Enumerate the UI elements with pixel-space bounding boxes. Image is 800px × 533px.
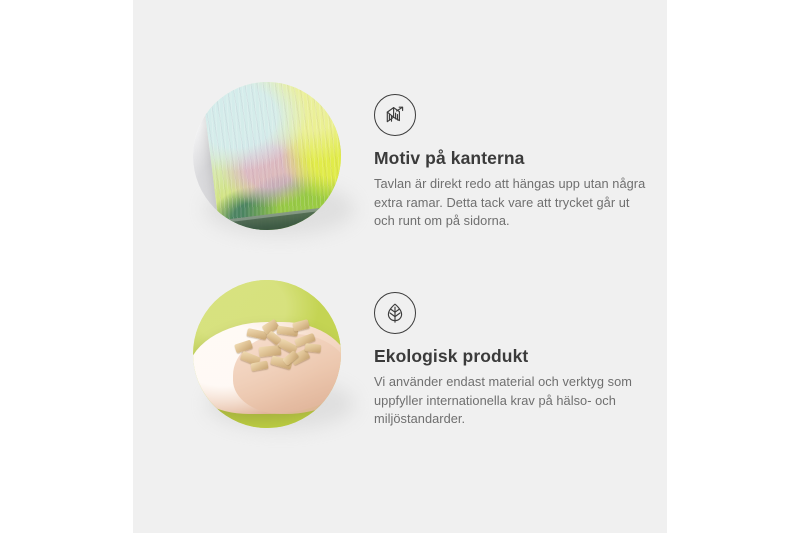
feature-text-canvasprint: Motiv på kanterna Tavlan är direkt redo … — [374, 82, 646, 231]
feature-image-canvasprint — [193, 82, 341, 230]
product-info-graphic: Motiv på kanterna Tavlan är direkt redo … — [0, 0, 800, 533]
canvas-slab — [202, 82, 341, 230]
eco-wood-photo — [193, 280, 341, 428]
feature-text-ecowood: Ekologisk produkt Vi använder endast mat… — [374, 280, 646, 429]
feature-motiv-pa-kanterna: Motiv på kanterna Tavlan är direkt redo … — [193, 82, 646, 231]
canvas-print-photo — [193, 82, 341, 230]
feature-title: Motiv på kanterna — [374, 148, 646, 169]
feature-description: Tavlan är direkt redo att hängas upp uta… — [374, 175, 646, 231]
canvas-wrap-edge-icon — [374, 94, 416, 136]
feature-ekologisk-produkt: Ekologisk produkt Vi använder endast mat… — [193, 280, 646, 429]
content-panel: Motiv på kanterna Tavlan är direkt redo … — [133, 0, 667, 533]
wood-chips-pile — [233, 318, 325, 376]
leaf-icon — [374, 292, 416, 334]
feature-description: Vi använder endast material och verktyg … — [374, 373, 646, 429]
feature-title: Ekologisk produkt — [374, 346, 646, 367]
feature-image-ecowood — [193, 280, 341, 428]
